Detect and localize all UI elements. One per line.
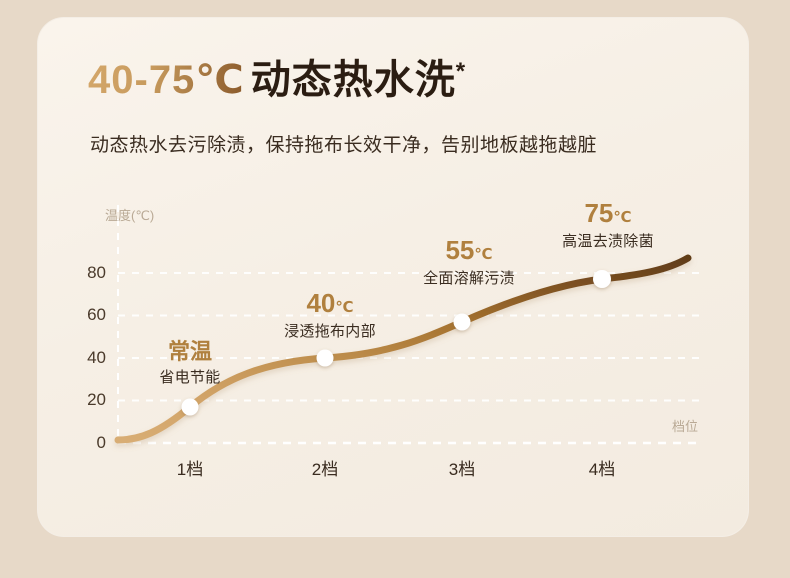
annotation-3-desc: 全面溶解污渍 <box>404 267 534 288</box>
annotation-point-3: 55℃ 全面溶解污渍 <box>404 237 534 288</box>
x-tick-1: 1档 <box>155 455 225 480</box>
y-tick-20: 20 <box>68 390 106 410</box>
annotation-2-unit: ℃ <box>335 299 353 316</box>
annotation-1-value: 常温 <box>130 340 250 363</box>
annotation-4-desc: 高温去渍除菌 <box>543 230 673 251</box>
annotation-2-desc: 浸透拖布内部 <box>265 320 395 341</box>
annotation-4-unit: ℃ <box>613 209 631 226</box>
annotation-3-unit: ℃ <box>474 246 492 263</box>
y-tick-0: 0 <box>68 433 106 453</box>
annotation-point-4: 75℃ 高温去渍除菌 <box>543 200 673 251</box>
y-axis-title: 温度(℃) <box>105 205 154 224</box>
x-axis-title: 档位 <box>672 416 698 435</box>
chart-labels: 温度(℃) 80 60 40 20 0 1档 2档 3档 4档 档位 常温 省电… <box>0 0 790 578</box>
x-tick-3: 3档 <box>427 455 497 480</box>
y-tick-40: 40 <box>68 348 106 368</box>
annotation-2-value: 40℃ <box>265 290 395 317</box>
annotation-3-value: 55℃ <box>404 237 534 264</box>
promo-page: 40-75℃动态热水洗* 动态热水去污除渍，保持拖布长效干净，告别地板越拖越脏 <box>0 0 790 578</box>
y-tick-60: 60 <box>68 305 106 325</box>
annotation-point-2: 40℃ 浸透拖布内部 <box>265 290 395 341</box>
annotation-point-1: 常温 省电节能 <box>130 340 250 387</box>
x-tick-4: 4档 <box>567 455 637 480</box>
x-tick-2: 2档 <box>290 455 360 480</box>
y-tick-80: 80 <box>68 263 106 283</box>
annotation-4-value: 75℃ <box>543 200 673 227</box>
annotation-1-desc: 省电节能 <box>130 366 250 387</box>
